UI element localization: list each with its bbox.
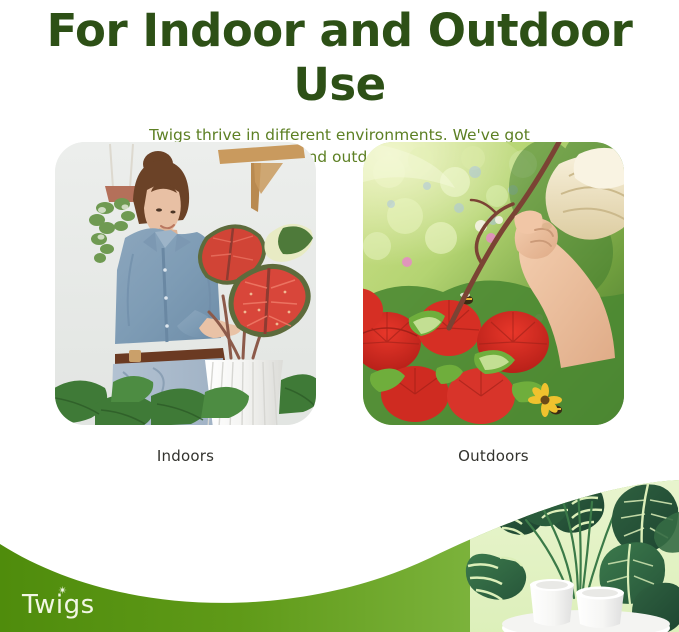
indoor-plant-photo [55,142,316,425]
sparkle-icon: ✴ [58,585,68,596]
footer-banner: Twigs ✴ [0,480,679,632]
outdoor-garden-photo [363,142,624,425]
brand-logo: Twigs ✴ [22,592,95,618]
use-case-cards: Indoors [0,142,679,465]
card-caption-outdoors: Outdoors [458,447,529,465]
card-outdoors: Outdoors [363,142,624,465]
card-indoors: Indoors [55,142,316,465]
page-title: For Indoor and Outdoor Use [0,4,679,112]
card-caption-indoors: Indoors [157,447,214,465]
